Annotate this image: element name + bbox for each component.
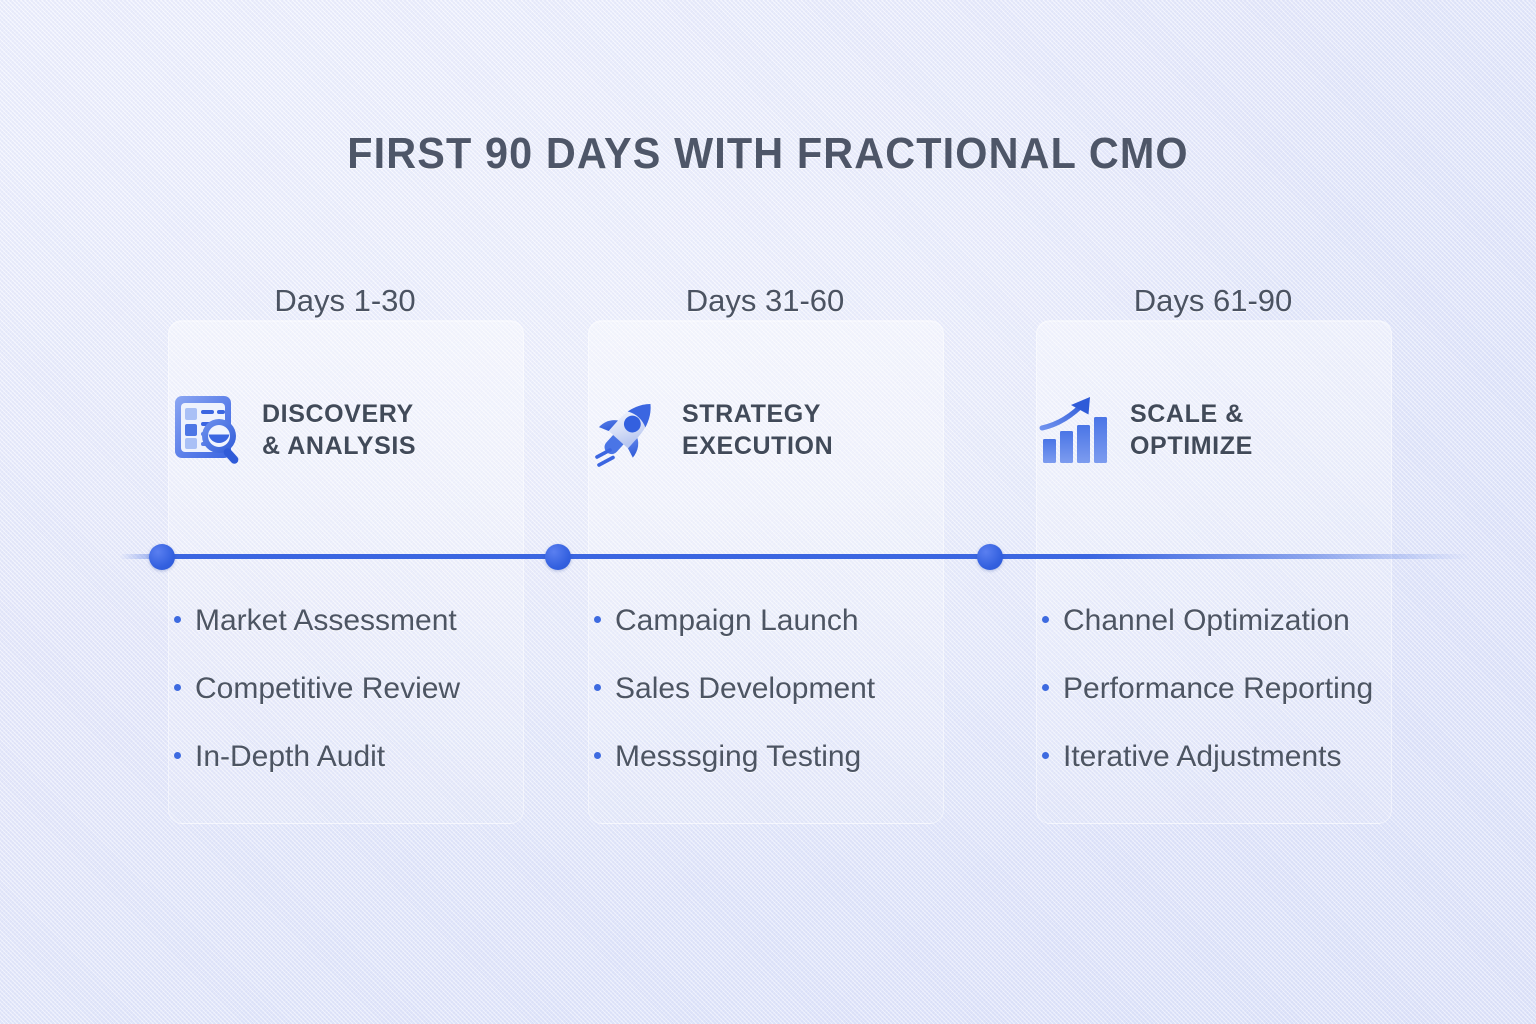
timeline-node-phase-3[interactable] [977, 544, 1003, 570]
growth-chart-icon [1038, 391, 1112, 469]
list-item-label: Market Assessment [195, 602, 457, 640]
phase-title: DISCOVERY & ANALYSIS [262, 398, 416, 462]
list-item: In-Depth Audit [174, 738, 540, 806]
list-item: Messsging Testing [594, 738, 960, 806]
phase-title-line2: EXECUTION [682, 430, 833, 462]
bullet-dot-icon [174, 684, 181, 691]
phase-title-line2: OPTIMIZE [1130, 430, 1253, 462]
list-item: Performance Reporting [1042, 670, 1408, 738]
timeline-node-phase-2[interactable] [545, 544, 571, 570]
phase-header: SCALE & OPTIMIZE [1038, 372, 1388, 487]
phase-title-line1: SCALE & [1130, 398, 1253, 430]
list-item-label: In-Depth Audit [195, 738, 385, 776]
phase-item-list: Campaign Launch Sales Development Messsg… [594, 602, 960, 806]
bullet-dot-icon [594, 616, 601, 623]
list-item-label: Iterative Adjustments [1063, 738, 1341, 776]
timeline [0, 541, 1536, 571]
bullet-dot-icon [1042, 752, 1049, 759]
list-item-label: Messsging Testing [615, 738, 861, 776]
list-item-label: Channel Optimization [1063, 602, 1350, 640]
timeline-track [120, 554, 1470, 559]
phase-title-line1: DISCOVERY [262, 398, 416, 430]
list-item: Iterative Adjustments [1042, 738, 1408, 806]
bullet-dot-icon [594, 684, 601, 691]
phase-title: SCALE & OPTIMIZE [1130, 398, 1253, 462]
list-item: Sales Development [594, 670, 960, 738]
phase-item-list: Channel Optimization Performance Reporti… [1042, 602, 1408, 806]
bullet-dot-icon [1042, 684, 1049, 691]
list-item-label: Sales Development [615, 670, 875, 708]
bullet-dot-icon [1042, 616, 1049, 623]
phase-title-line2: & ANALYSIS [262, 430, 416, 462]
page-title: FIRST 90 DAYS WITH FRACTIONAL CMO [46, 128, 1490, 180]
phase-item-list: Market Assessment Competitive Review In-… [174, 602, 540, 806]
infographic-canvas: FIRST 90 DAYS WITH FRACTIONAL CMO Days 1… [0, 0, 1536, 1024]
phase-header: STRATEGY EXECUTION [590, 372, 940, 487]
list-item: Competitive Review [174, 670, 540, 738]
bullet-dot-icon [174, 616, 181, 623]
phase-days-label: Days 1-30 [150, 282, 540, 320]
phase-days-label: Days 61-90 [1018, 282, 1408, 320]
phase-header: DISCOVERY & ANALYSIS [170, 372, 520, 487]
phase-title: STRATEGY EXECUTION [682, 398, 833, 462]
bullet-dot-icon [594, 752, 601, 759]
list-item-label: Campaign Launch [615, 602, 859, 640]
list-item-label: Competitive Review [195, 670, 460, 708]
list-item: Channel Optimization [1042, 602, 1408, 670]
phase-title-line1: STRATEGY [682, 398, 833, 430]
list-item-label: Performance Reporting [1063, 670, 1373, 708]
list-item: Campaign Launch [594, 602, 960, 670]
document-search-icon [170, 391, 244, 469]
bullet-dot-icon [174, 752, 181, 759]
list-item: Market Assessment [174, 602, 540, 670]
phase-days-label: Days 31-60 [570, 282, 960, 320]
timeline-node-phase-1[interactable] [149, 544, 175, 570]
rocket-icon [590, 391, 664, 469]
